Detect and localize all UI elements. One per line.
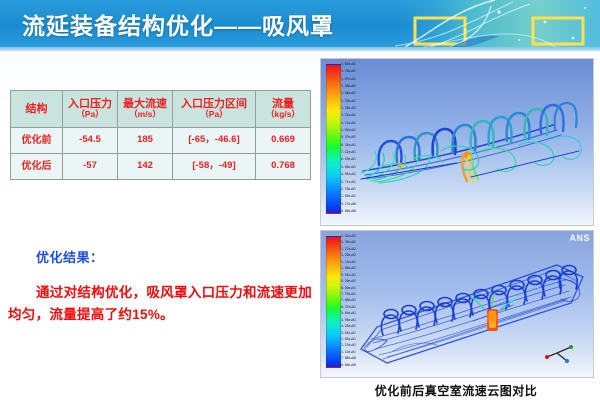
colorbar-tick: 4.64e+01 <box>341 173 356 176</box>
header-unit: （Pa） <box>64 110 116 120</box>
colorbar-tick: 3.71e+01 <box>341 181 356 184</box>
colorbar-tick: 5.56e+01 <box>341 166 356 169</box>
table-header-flow-rate: 流量 （kg/s） <box>256 91 311 128</box>
cell-pressure-range: [-65，-46.6] <box>173 128 256 154</box>
slide-root: 流延装备结构优化——吸风罩 结构 入口压力 （Pa） 最大流速 <box>0 0 600 410</box>
colorbar-tick: 6.37e+01 <box>341 306 356 309</box>
metrics-table: 结构 入口压力 （Pa） 最大流速 （m/s） 入口压力区间 （Pa） <box>10 90 311 180</box>
cfd-figure-before: 1.85e+02 1.76e+02 1.67e+02 1.58e+02 1.48… <box>320 58 594 226</box>
table-header-max-velocity: 最大流速 （m/s） <box>118 91 173 128</box>
colorbar-tick: 7.08e+00 <box>341 357 356 360</box>
colorbar-tick: 8.34e+01 <box>341 144 356 147</box>
colorbar-tick: 1.42e+02 <box>341 235 356 238</box>
colorbar-tick: 1.85e+01 <box>341 195 356 198</box>
colorbar-tick: 1.48e+02 <box>341 92 356 95</box>
colorbar-tick: 7.79e+01 <box>341 293 356 296</box>
colorbar-tick: 4.25e+01 <box>341 325 356 328</box>
colorbar-tick: 1.39e+02 <box>341 100 356 103</box>
colorbar-before-gradient <box>326 64 341 214</box>
table-header-row: 结构 入口压力 （Pa） 最大流速 （m/s） 入口压力区间 （Pa） <box>11 91 311 128</box>
result-paragraph: 通过对结构优化，吸风罩入口压力和流速更加均匀，流量提高了约15%。 <box>8 282 314 327</box>
colorbar-tick: 1.27e+02 <box>341 248 356 251</box>
colorbar-tick: 7.42e+01 <box>341 151 356 154</box>
colorbar-tick: 1.06e+02 <box>341 267 356 270</box>
header-unit: （m/s） <box>119 110 171 120</box>
cfd-streamline-render-after <box>321 231 593 377</box>
header-label: 入口压力 <box>68 98 112 110</box>
cell-pressure-range: [-58，-49] <box>173 154 256 180</box>
table-row: 优化前 -54.5 185 [-65，-46.6] 0.669 <box>11 128 311 154</box>
cfd-figure-after: ANS 1.42e+02 1.35e+02 1.27e+02 1.20e+02 … <box>320 230 594 378</box>
cfd-streamline-render-before <box>321 59 593 225</box>
colorbar-tick: 1.13e+02 <box>341 261 356 264</box>
header-unit: （kg/s） <box>257 110 309 120</box>
colorbar-after-strip-wrap <box>326 236 339 368</box>
colorbar-tick: 8.50e+01 <box>341 287 356 290</box>
result-heading: 优化结果： <box>36 247 104 266</box>
colorbar-before-strip-wrap <box>326 64 339 214</box>
colorbar-tick: 9.27e+00 <box>341 203 356 206</box>
header-label: 入口压力区间 <box>181 98 247 110</box>
table-header-pressure-range: 入口压力区间 （Pa） <box>173 91 256 128</box>
colorbar-tick: 1.58e+02 <box>341 85 356 88</box>
colorbar-tick: 9.91e+01 <box>341 274 356 277</box>
colorbar-tick: 1.85e+02 <box>341 63 356 66</box>
colorbar-tick: 1.20e+02 <box>341 254 356 257</box>
colorbar-tick: 2.83e+01 <box>341 338 356 341</box>
colorbar-tick: 4.96e+01 <box>341 319 356 322</box>
cell-inlet-pressure: -57 <box>63 154 118 180</box>
header-unit: （Pa） <box>174 110 254 120</box>
colorbar-tick: 1.67e+02 <box>341 78 356 81</box>
cell-inlet-pressure: -54.5 <box>63 128 118 154</box>
colorbar-after-gradient <box>326 236 341 368</box>
cell-max-velocity: 142 <box>118 154 173 180</box>
header-label: 流量 <box>272 98 294 110</box>
colorbar-tick: 1.76e+02 <box>341 70 356 73</box>
colorbar-tick: 6.49e+01 <box>341 158 356 161</box>
colorbar-tick: 3.54e+01 <box>341 332 356 335</box>
header-underline <box>0 47 600 51</box>
cell-max-velocity: 185 <box>118 128 173 154</box>
colorbar-tick: 0.00e+00 <box>341 210 356 213</box>
colorbar-tick: 1.35e+02 <box>341 241 356 244</box>
table-row: 优化后 -57 142 [-58，-49] 0.768 <box>11 154 311 180</box>
colorbar-tick: 1.42e+01 <box>341 351 356 354</box>
colorbar-tick: 2.78e+01 <box>341 188 356 191</box>
header-label: 结构 <box>26 103 48 115</box>
colorbar-tick: 2.13e+01 <box>341 344 356 347</box>
cell-structure: 优化后 <box>11 154 63 180</box>
colorbar-tick: 1.30e+02 <box>341 107 356 110</box>
colorbar-tick: 1.21e+02 <box>341 114 356 117</box>
colorbar-tick: 0.00e+00 <box>341 364 356 367</box>
slide-header-bar: 流延装备结构优化——吸风罩 <box>0 0 600 47</box>
colorbar-tick: 9.27e+01 <box>341 136 356 139</box>
table-header-structure: 结构 <box>11 91 63 128</box>
colorbar-tick: 5.66e+01 <box>341 312 356 315</box>
cell-flow-rate: 0.768 <box>256 154 311 180</box>
cell-flow-rate: 0.669 <box>256 128 311 154</box>
colorbar-tick: 1.11e+02 <box>341 122 356 125</box>
header-decoration-graphic <box>395 0 600 47</box>
colorbar-tick: 7.08e+01 <box>341 299 356 302</box>
metrics-table-container: 结构 入口压力 （Pa） 最大流速 （m/s） 入口压力区间 （Pa） <box>10 90 310 180</box>
page-title: 流延装备结构优化——吸风罩 <box>22 7 334 41</box>
header-label: 最大流速 <box>123 98 167 110</box>
table-header-inlet-pressure: 入口压力 （Pa） <box>63 91 118 128</box>
colorbar-tick: 9.20e+01 <box>341 280 356 283</box>
cell-structure: 优化前 <box>11 128 63 154</box>
colorbar-after-labels: 1.42e+02 1.35e+02 1.27e+02 1.20e+02 1.13… <box>341 235 356 367</box>
ansys-watermark: ANS <box>569 233 590 243</box>
figure-caption: 优化前后真空室流速云图对比 <box>320 382 592 399</box>
colorbar-before-labels: 1.85e+02 1.76e+02 1.67e+02 1.58e+02 1.48… <box>341 63 356 213</box>
colorbar-tick: 1.02e+02 <box>341 129 356 132</box>
